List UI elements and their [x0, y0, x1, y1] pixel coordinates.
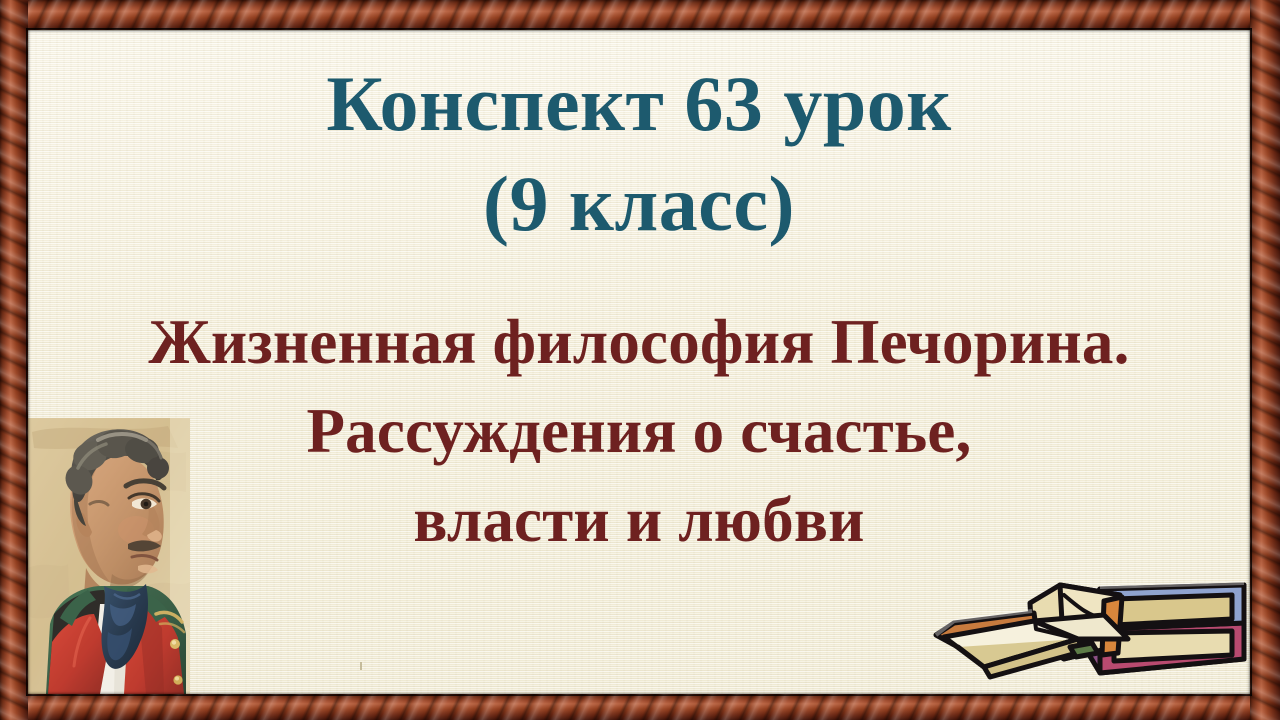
books-clipart-image: [914, 555, 1250, 694]
page-subtitle: Жизненная философия Печорина. Рассуждени…: [68, 298, 1210, 564]
title-line-2: (9 класс): [28, 154, 1250, 254]
subtitle-line-1: Жизненная философия Печорина.: [68, 298, 1210, 387]
frame-bottom-rope: [0, 694, 1280, 720]
pechorin-portrait-image: [28, 418, 190, 694]
title-line-1: Конспект 63 урок: [28, 54, 1250, 154]
frame-left-rope: [0, 0, 28, 720]
subtitle-line-2: Рассуждения о счастье,: [68, 387, 1210, 476]
paper-speck-artifact: [360, 662, 362, 670]
frame-right-rope: [1250, 0, 1280, 720]
subtitle-line-3: власти и любви: [68, 476, 1210, 565]
presentation-slide: Конспект 63 урок (9 класс) Жизненная фил…: [0, 0, 1280, 720]
page-title: Конспект 63 урок (9 класс): [28, 54, 1250, 254]
slide-canvas: Конспект 63 урок (9 класс) Жизненная фил…: [28, 30, 1250, 694]
frame-top-rope: [0, 0, 1280, 30]
